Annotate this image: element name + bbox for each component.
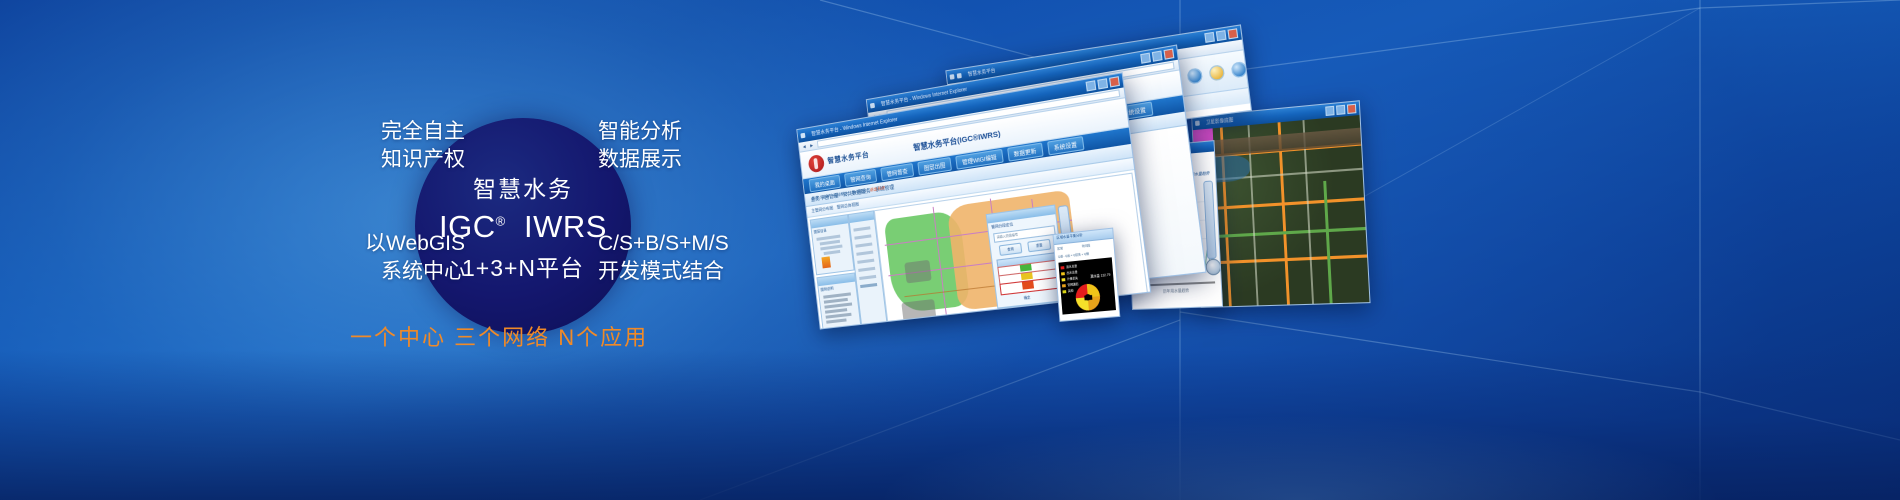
status-link[interactable]: 在线帮助 [832,191,847,199]
formula-label: Q进 - Q出 = Q损失 + Q储 [1058,252,1089,259]
window-icon [957,73,962,79]
tool-item-active[interactable] [860,283,877,288]
window-icon [870,103,875,109]
maximize-icon[interactable] [1152,50,1163,61]
banner-stage: 卫星影像底图 趋势分析 [0,0,1900,500]
tree-item[interactable] [824,250,841,255]
status-link[interactable]: 首页 [811,195,819,202]
map-tab[interactable]: 管网总体视图 [836,201,859,210]
donut-chart-panel[interactable]: 进水总量 出水总量 计量损失 管网漏损 其他 漏水量 132.79 [1058,257,1116,314]
donut-value-label: 漏水量 132.79 [1090,272,1110,279]
dialog-title: 管网分段定位 [991,222,1013,230]
pan-navigator-icon[interactable] [1205,258,1221,275]
dialog-footer[interactable]: 确定 [1023,294,1030,300]
export-icon[interactable] [1187,67,1203,84]
help-icon[interactable] [1231,61,1248,78]
tool-item[interactable] [857,259,874,264]
panel-header [849,211,874,223]
map-tab[interactable]: 主管网分布图 [811,205,833,214]
close-icon[interactable] [1109,76,1120,87]
window-title: 卫星影像底图 [1206,116,1234,126]
floor-sheen [700,330,1900,500]
maximize-icon[interactable] [1097,78,1108,89]
label-line: 开发模式结合 [598,258,818,286]
window-icon [1195,121,1200,126]
maximize-icon[interactable] [1216,30,1227,41]
selector-label[interactable]: 时间段 [1082,243,1091,248]
selector-label[interactable]: 区域 [1057,246,1063,251]
badge-line-3: 1+3+N平台 [462,249,584,283]
map-building-block [904,260,931,284]
window-icon [950,74,955,80]
legend-row [826,318,846,323]
label-bottom-left: 以WebGIS 系统中心 [292,230,465,287]
tagline: 一个中心 三个网络 N个应用 [350,320,648,352]
label-line: 智能分析 [598,118,798,146]
query-button[interactable]: 查询 [999,243,1023,256]
tool-item[interactable] [855,242,872,247]
tool-item[interactable] [854,234,871,239]
panel-title: 图例说明 [820,286,833,293]
close-icon[interactable] [1227,28,1238,39]
dialog-water-balance[interactable]: 区域水量平衡分析 区域 时间段 Q进 - Q出 = Q损失 + Q储 进水总量 … [1053,228,1121,322]
tool-item[interactable] [859,275,876,280]
label-top-right: 智能分析 数据展示 [598,118,798,175]
registered-mark-icon: ® [496,213,506,228]
legend-row [826,313,852,319]
label-top-left: 完全自主 知识产权 [305,118,465,175]
status-link[interactable]: 注销 [821,194,829,201]
satellite-road-green [1198,227,1366,239]
map-building-block [901,299,936,323]
badge-product: IWRS [524,209,607,244]
label-bottom-right: C/S+B/S+M/S 开发模式结合 [598,230,818,287]
forward-icon[interactable]: ▶ [810,143,813,148]
label-line: 系统中心 [292,258,465,286]
tool-item[interactable] [856,251,873,256]
label-line: C/S+B/S+M/S [598,230,818,258]
satellite-road [1199,254,1367,264]
minimize-icon[interactable] [1325,106,1334,116]
reset-button[interactable]: 重置 [1027,239,1051,253]
legend-color-ramp [821,256,830,268]
label-line: 以WebGIS [292,230,465,258]
tool-item[interactable] [858,267,875,272]
close-icon[interactable] [1347,104,1356,114]
legend-row [824,302,852,308]
label-line: 知识产权 [305,146,465,174]
donut-chart [1073,281,1103,314]
satellite-road [1197,197,1364,211]
panel-header [811,215,848,228]
settings-icon[interactable] [1208,64,1225,81]
label-line: 完全自主 [305,118,465,146]
status-link[interactable]: 退出系统 [869,185,885,193]
window-controls[interactable] [1325,104,1356,116]
status-link[interactable]: 站内信息 [851,188,867,196]
close-icon[interactable] [1163,48,1174,59]
minimize-icon[interactable] [1140,53,1151,64]
concept-diagram: 完全自主 知识产权 以WebGIS 系统中心 智能分析 数据展示 C/S+B/S… [250,100,810,350]
maximize-icon[interactable] [1336,105,1345,115]
minimize-icon[interactable] [1086,80,1097,91]
minimize-icon[interactable] [1204,32,1215,43]
tool-item[interactable] [853,226,870,231]
label-line: 数据展示 [598,146,798,174]
status-badge [1022,281,1034,290]
panel-header [817,274,855,287]
badge-line-1: 智慧水务 [473,170,573,204]
